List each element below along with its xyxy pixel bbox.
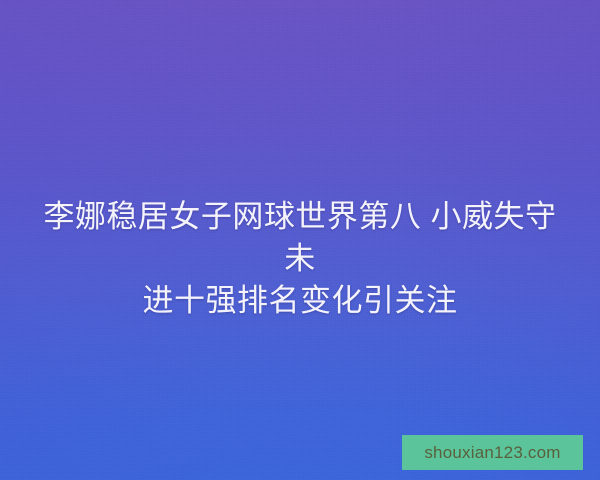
- headline-text: 李娜稳居女子网球世界第八 小威失守未 进十强排名变化引关注: [0, 196, 600, 322]
- watermark-badge: shouxian123.com: [402, 435, 583, 470]
- article-banner-image: 李娜稳居女子网球世界第八 小威失守未 进十强排名变化引关注 shouxian12…: [0, 0, 600, 480]
- watermark-label: shouxian123.com: [424, 444, 560, 461]
